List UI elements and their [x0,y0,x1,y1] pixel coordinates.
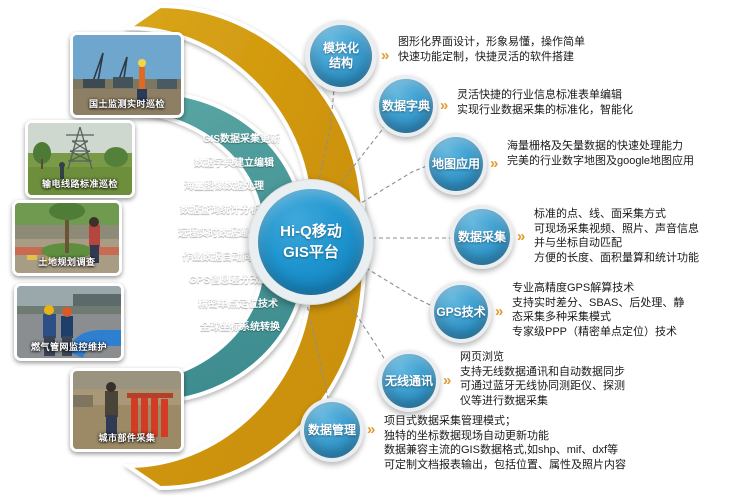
photo-card[interactable]: 土地规划调查 [12,200,122,276]
photo-caption: 城市部件采集 [73,433,181,444]
node-label: 模块化 结构 [323,41,359,71]
feature-item: 海量图像数据处理 [120,175,280,199]
node-bubble-core: 数据采集 [454,209,510,265]
node-bubble[interactable]: 无线通讯 [378,350,440,412]
photo-caption: 燃气管网监控维护 [17,342,121,353]
chevron-right-icon: » [367,422,372,437]
node-description: 海量栅格及矢量数据的快速处理能力 完美的行业数字地图及google地图应用 [507,139,702,168]
node-bubble-core: 数据字典 [379,79,433,133]
chevron-right-icon: » [440,98,445,113]
node-bubble-core: 模块化 结构 [310,25,372,87]
central-hub-core: Hi-Q移动 GIS平台 [258,189,364,295]
feature-item: 数据字典建立编辑 [120,152,280,176]
node-bubble[interactable]: 地图应用 [425,133,487,195]
hub-title-line2: GIS平台 [283,242,339,263]
node-description: 网页浏览 支持无线数据通讯和自动数据同步 可通过蓝牙无线协同测距仪、探测 仪等进… [460,350,710,408]
node-label: 数据管理 [308,423,356,438]
node-bubble-core: GPS技术 [434,285,488,339]
node-label: 数据采集 [458,230,506,245]
node-label: 无线通讯 [385,374,433,389]
chevron-right-icon: » [517,229,522,244]
node-bubble[interactable]: 数据字典 [375,75,437,137]
chevron-right-icon: » [443,373,448,388]
node-bubble-core: 无线通讯 [382,354,436,408]
hub-title-line1: Hi-Q移动 [280,221,342,242]
node-label: GPS技术 [436,305,485,320]
chevron-right-icon: » [495,304,500,319]
chevron-right-icon: » [381,48,386,63]
node-bubble[interactable]: 数据采集 [450,205,514,269]
photo-caption: 土地规划调查 [15,257,119,268]
photo-caption: 输电线路标准巡检 [28,179,132,190]
chevron-right-icon: » [490,156,495,171]
node-bubble[interactable]: 数据管理 [300,398,364,462]
node-bubble-core: 数据管理 [304,402,360,458]
infographic-canvas: 国土监测实时巡检 输电线路标准巡检 [0,0,738,495]
node-description: 图形化界面设计，形象易懂，操作简单 快速功能定制，快捷灵活的软件搭建 [398,35,698,64]
feature-item: 全球坐标系统转换 [120,316,280,340]
feature-item: GIS数据采集更新 [120,128,280,152]
feature-item: 精密单点定位技术 [120,293,280,317]
node-description: 项目式数据采集管理模式； 独特的坐标数据现场自动更新功能 数据兼容主流的GIS数… [384,414,714,472]
photo-card[interactable]: 燃气管网监控维护 [14,283,124,361]
node-description: 灵活快捷的行业信息标准表单编辑 实现行业数据采集的标准化，智能化 [457,88,738,117]
photo-card[interactable]: 城市部件采集 [70,368,184,452]
node-description: 专业高精度GPS解算技术 支持实时差分、SBAS、后处理、静 态采集多种采集模式… [512,281,738,339]
node-bubble[interactable]: 模块化 结构 [305,20,377,92]
photo-card[interactable]: 输电线路标准巡检 [25,120,135,198]
node-label: 地图应用 [432,157,480,172]
node-label: 数据字典 [382,99,430,114]
photo-caption: 国土监测实时巡检 [73,99,181,110]
node-bubble-core: 地图应用 [429,137,483,191]
node-description: 标准的点、线、面采集方式 可现场采集视频、照片、声音信息 并与坐标自动匹配 方便… [534,207,738,265]
central-hub[interactable]: Hi-Q移动 GIS平台 [248,179,374,305]
node-bubble[interactable]: GPS技术 [430,281,492,343]
photo-card[interactable]: 国土监测实时巡检 [70,32,184,118]
